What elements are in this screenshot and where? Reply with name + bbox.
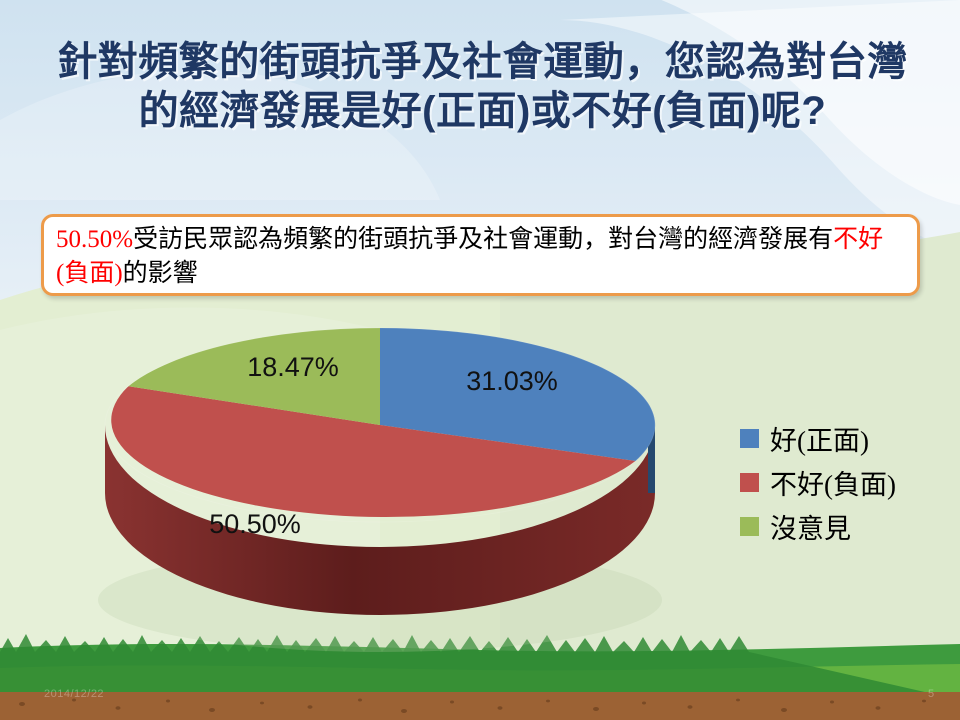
slide-root: 針對頻繁的街頭抗爭及社會運動，您認為對台灣的經濟發展是好(正面)或不好(負面)呢… xyxy=(0,0,960,720)
legend-swatch-negative-icon xyxy=(740,473,759,492)
footer-page-number: 5 xyxy=(928,688,935,700)
legend-item-positive[interactable]: 好(正面) xyxy=(740,416,950,460)
legend-item-neutral[interactable]: 沒意見 xyxy=(740,504,950,548)
pie-label-negative: 50.50% xyxy=(209,509,301,539)
pie-label-positive: 31.03% xyxy=(466,366,558,396)
legend-swatch-neutral-icon xyxy=(740,517,759,536)
legend-label-neutral: 沒意見 xyxy=(770,507,851,546)
legend-label-positive: 好(正面) xyxy=(770,419,869,458)
chart-legend: 好(正面) 不好(負面) 沒意見 xyxy=(740,416,950,548)
pie-label-neutral: 18.47% xyxy=(247,352,339,382)
footer-date: 2014/12/22 xyxy=(44,688,104,700)
legend-label-negative: 不好(負面) xyxy=(770,463,896,502)
legend-swatch-positive-icon xyxy=(740,429,759,448)
legend-item-negative[interactable]: 不好(負面) xyxy=(740,460,950,504)
pie-chart: 31.03% 50.50% 18.47% xyxy=(0,0,960,720)
